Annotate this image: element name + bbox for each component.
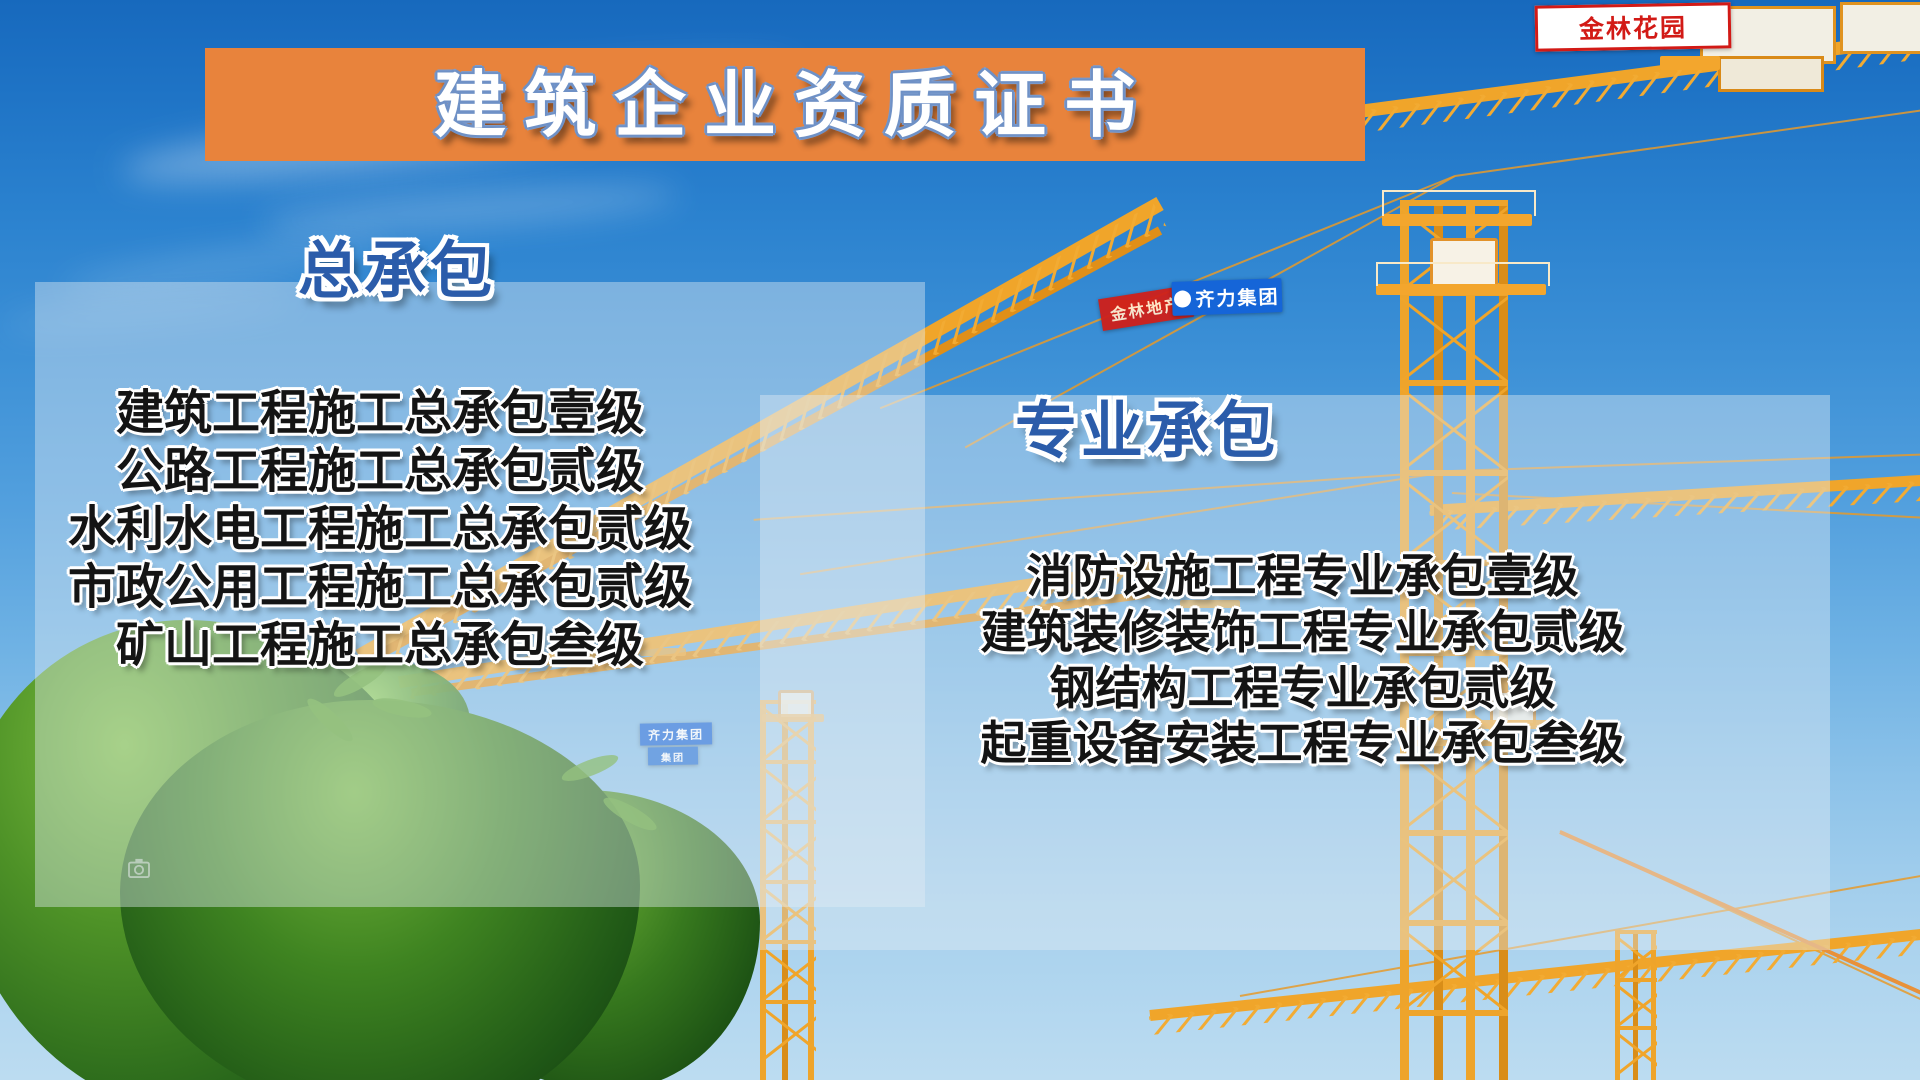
qualification-item: 公路工程施工总承包贰级 xyxy=(116,446,644,497)
crane-sign-qili-group: 齐力集团 xyxy=(1171,278,1282,316)
qili-logo-icon xyxy=(1174,290,1192,308)
crane-sign-qili-label: 齐力集团 xyxy=(1195,282,1280,312)
crane-platform xyxy=(1660,56,1720,70)
crane-mast-small xyxy=(1615,930,1657,1080)
crane-railing xyxy=(1382,190,1536,216)
qualification-item: 消防设施工程专业承包壹级 xyxy=(1027,552,1579,601)
crane-railing xyxy=(1376,262,1550,286)
crane-sign-jinlin-garden: 金林花园 xyxy=(1535,2,1732,51)
general-contracting-list: 建筑工程施工总承包壹级 公路工程施工总承包贰级 水利水电工程施工总承包贰级 市政… xyxy=(35,388,725,670)
qualification-item: 市政公用工程施工总承包贰级 xyxy=(68,562,692,613)
qualification-item: 起重设备安装工程专业承包叁级 xyxy=(981,719,1625,768)
qualification-item: 建筑装修装饰工程专业承包贰级 xyxy=(981,608,1625,657)
professional-contracting-list: 消防设施工程专业承包壹级 建筑装修装饰工程专业承包贰级 钢结构工程专业承包贰级 … xyxy=(790,552,1815,768)
page-title: 建筑企业资质证书 xyxy=(416,69,1154,141)
section-heading-general-contracting: 总承包 xyxy=(298,240,496,302)
qualification-item: 建筑工程施工总承包壹级 xyxy=(116,388,644,439)
title-banner: 建筑企业资质证书 xyxy=(205,48,1365,161)
qualification-item: 矿山工程施工总承包叁级 xyxy=(116,620,644,671)
crane-counterweight xyxy=(1718,56,1824,92)
section-heading-professional-contracting: 专业承包 xyxy=(1015,400,1279,462)
crane-counterweight xyxy=(1840,2,1920,54)
poster-canvas: 金林花园 金林地产 齐力集团 齐力集团 集团 建筑企业资质证书 总承包 xyxy=(0,0,1920,1080)
qualification-item: 钢结构工程专业承包贰级 xyxy=(1050,664,1556,713)
qualification-item: 水利水电工程施工总承包贰级 xyxy=(68,504,692,555)
